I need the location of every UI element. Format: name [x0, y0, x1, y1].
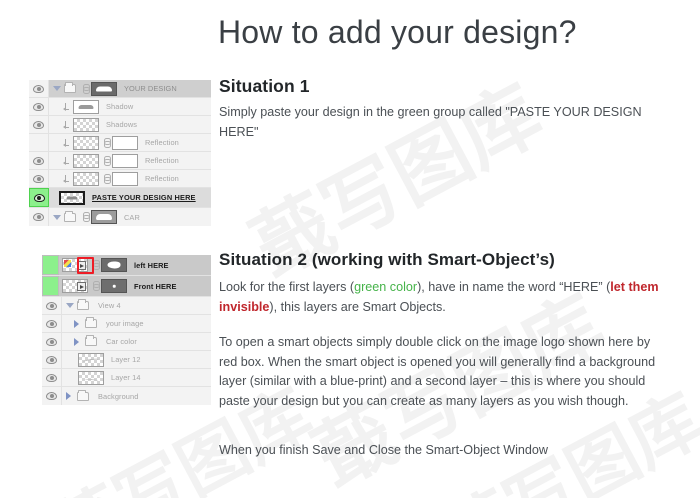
chevron-right-icon[interactable] — [74, 320, 79, 328]
mirror-shape-icon — [108, 262, 121, 269]
layer-label: Layer 12 — [111, 355, 141, 364]
visibility-toggle[interactable] — [42, 333, 62, 350]
clipping-mask-icon — [63, 120, 70, 129]
layer-body[interactable]: Car color — [62, 333, 211, 350]
layer-body[interactable]: CAR — [49, 208, 211, 226]
layer-body[interactable]: Front HERE — [59, 276, 211, 296]
layer-label: PASTE YOUR DESIGN HERE — [92, 193, 196, 202]
folder-icon — [85, 319, 97, 328]
layer-mask-thumbnail[interactable] — [112, 136, 138, 150]
layers-panel-secondary[interactable]: left HERE Front HERE — [42, 255, 211, 405]
visibility-toggle[interactable] — [29, 152, 49, 169]
layer-row[interactable]: CAR — [29, 208, 211, 226]
clipping-mask-icon — [63, 102, 70, 111]
chevron-right-icon[interactable] — [74, 338, 79, 346]
eye-icon — [33, 121, 44, 129]
eye-icon — [46, 320, 57, 328]
layer-label: Front HERE — [134, 282, 176, 291]
layer-thumbnail[interactable] — [91, 210, 117, 224]
layer-body[interactable]: Reflection — [49, 134, 211, 151]
layer-body[interactable]: Layer 12 — [62, 351, 211, 368]
visibility-toggle[interactable] — [42, 297, 62, 314]
section-heading-situation-2: Situation 2 (working with Smart-Object’s… — [219, 250, 555, 270]
visibility-toggle[interactable] — [42, 351, 62, 368]
visibility-toggle[interactable] — [29, 170, 49, 187]
layer-label: Layer 14 — [111, 373, 141, 382]
layer-thumbnail[interactable] — [73, 100, 99, 114]
layer-row[interactable]: Layer 14 — [42, 369, 211, 387]
layer-body[interactable]: PASTE YOUR DESIGN HERE — [49, 188, 211, 207]
layer-row[interactable]: Shadows — [29, 116, 211, 134]
layer-label: Reflection — [145, 174, 179, 183]
smart-object-thumbnail[interactable] — [62, 279, 88, 293]
folder-icon — [64, 213, 76, 222]
car-shape-icon — [96, 86, 112, 91]
layer-body[interactable]: Shadows — [49, 116, 211, 133]
layer-body[interactable]: Layer 14 — [62, 369, 211, 386]
brush-stroke-icon — [85, 378, 98, 382]
layer-row[interactable]: your image — [42, 315, 211, 333]
smart-object-badge-icon — [77, 261, 86, 270]
layer-label: YOUR DESIGN — [124, 84, 177, 93]
layer-mask-thumbnail[interactable] — [112, 172, 138, 186]
para2-pre: Look for the first layers ( — [219, 280, 354, 294]
layer-label: Shadow — [106, 102, 133, 111]
layer-label: Background — [98, 392, 138, 401]
visibility-toggle[interactable] — [29, 98, 49, 115]
layer-row-paste-here[interactable]: PASTE YOUR DESIGN HERE — [29, 188, 211, 208]
layer-thumbnail[interactable] — [91, 82, 117, 96]
clipping-mask-icon — [63, 174, 70, 183]
layer-thumbnail[interactable] — [101, 279, 127, 293]
layer-row[interactable]: Layer 12 — [42, 351, 211, 369]
eye-icon — [33, 213, 44, 221]
layer-body[interactable]: Shadow — [49, 98, 211, 115]
link-icon[interactable] — [104, 138, 109, 148]
color-swatch-icon — [64, 260, 71, 267]
layer-thumbnail[interactable] — [78, 353, 104, 367]
visibility-toggle[interactable] — [42, 369, 62, 386]
eye-icon — [33, 175, 44, 183]
car-shape-icon — [96, 214, 112, 220]
layer-body[interactable]: Reflection — [49, 152, 211, 169]
chevron-down-icon[interactable] — [66, 303, 74, 308]
paragraph-save-close: When you finish Save and Close the Smart… — [219, 441, 671, 461]
eye-icon — [46, 302, 57, 310]
layer-thumbnail[interactable] — [78, 371, 104, 385]
layer-thumbnail[interactable] — [73, 172, 99, 186]
layer-body[interactable]: Reflection — [49, 170, 211, 187]
layer-label: Car color — [106, 337, 137, 346]
layer-label: your image — [106, 319, 144, 328]
page-root: 蕺写图库 蕺写图库 蕺写图库 蕺写图库 How to add your desi… — [0, 0, 700, 498]
folder-icon — [77, 392, 89, 401]
smart-object-thumbnail[interactable] — [62, 258, 88, 272]
eye-icon — [33, 157, 44, 165]
layer-row[interactable]: Car color — [42, 333, 211, 351]
layer-row-left-here[interactable]: left HERE — [42, 255, 211, 276]
para2-post: ), this layers are Smart Objects. — [269, 300, 445, 314]
layer-thumbnail[interactable] — [73, 136, 99, 150]
layer-label: left HERE — [134, 261, 169, 270]
layer-thumbnail[interactable] — [73, 154, 99, 168]
visibility-toggle[interactable] — [29, 134, 49, 151]
layer-thumbnail[interactable] — [101, 258, 127, 272]
layer-label: CAR — [124, 213, 140, 222]
chevron-right-icon[interactable] — [66, 392, 71, 400]
layer-thumbnail[interactable] — [73, 118, 99, 132]
layers-panel-primary[interactable]: YOUR DESIGN Shadow Sha — [29, 80, 211, 226]
layer-row[interactable]: Background — [42, 387, 211, 405]
dot-icon — [113, 285, 116, 288]
eye-icon — [46, 356, 57, 364]
link-icon[interactable] — [83, 84, 88, 94]
layer-body[interactable]: View 4 — [62, 297, 211, 314]
smart-object-badge-icon — [77, 282, 86, 291]
layer-label: Reflection — [145, 156, 179, 165]
layer-body[interactable]: YOUR DESIGN — [49, 80, 211, 97]
eye-icon — [46, 338, 57, 346]
para2-green-text: green color — [354, 280, 417, 294]
link-icon[interactable] — [83, 212, 88, 222]
car-shape-icon — [67, 197, 78, 200]
layer-body[interactable]: your image — [62, 315, 211, 332]
paragraph-smart-object-howto: To open a smart objects simply double cl… — [219, 333, 671, 411]
layer-body[interactable]: Background — [62, 387, 211, 405]
eye-icon — [33, 103, 44, 111]
layer-row[interactable]: Reflection — [29, 152, 211, 170]
chevron-down-icon[interactable] — [53, 215, 61, 220]
para2-mid: ), have in name the word “HERE” ( — [417, 280, 610, 294]
visibility-toggle[interactable] — [29, 80, 49, 97]
eye-icon — [46, 392, 57, 400]
link-icon[interactable] — [93, 281, 98, 291]
link-icon[interactable] — [93, 260, 98, 270]
link-icon[interactable] — [104, 174, 109, 184]
visibility-toggle[interactable] — [42, 315, 62, 332]
paragraph-situation-2: Look for the first layers (green color),… — [219, 278, 671, 317]
layer-body[interactable]: left HERE — [59, 255, 211, 275]
link-icon[interactable] — [104, 156, 109, 166]
page-title: How to add your design? — [218, 14, 577, 51]
layer-mask-thumbnail[interactable] — [112, 154, 138, 168]
chevron-down-icon[interactable] — [53, 86, 61, 91]
visibility-toggle-hidden-green[interactable] — [42, 255, 59, 275]
layer-row[interactable]: Reflection — [29, 134, 211, 152]
layer-row[interactable]: View 4 — [42, 297, 211, 315]
visibility-toggle[interactable] — [29, 116, 49, 133]
clipping-mask-icon — [63, 138, 70, 147]
brush-stroke-icon — [83, 357, 99, 363]
layer-row-front-here[interactable]: Front HERE — [42, 276, 211, 297]
layer-thumbnail[interactable] — [59, 191, 85, 205]
visibility-toggle-hidden-green[interactable] — [42, 276, 59, 296]
eye-icon — [46, 374, 57, 382]
folder-icon — [64, 84, 76, 93]
folder-icon — [85, 337, 97, 346]
layer-label: Reflection — [145, 138, 179, 147]
layer-label: Shadows — [106, 120, 137, 129]
clipping-mask-icon — [63, 156, 70, 165]
layer-row[interactable]: YOUR DESIGN — [29, 80, 211, 98]
layer-row[interactable]: Reflection — [29, 170, 211, 188]
visibility-toggle[interactable] — [29, 208, 49, 226]
visibility-toggle[interactable] — [42, 387, 62, 405]
visibility-toggle-highlighted[interactable] — [29, 188, 49, 207]
paragraph-situation-1: Simply paste your design in the green gr… — [219, 103, 671, 142]
folder-icon — [77, 301, 89, 310]
eye-icon — [33, 85, 44, 93]
car-shadow-icon — [79, 105, 94, 109]
layer-label: View 4 — [98, 301, 121, 310]
section-heading-situation-1: Situation 1 — [219, 76, 310, 97]
eye-icon — [34, 194, 45, 202]
layer-row[interactable]: Shadow — [29, 98, 211, 116]
